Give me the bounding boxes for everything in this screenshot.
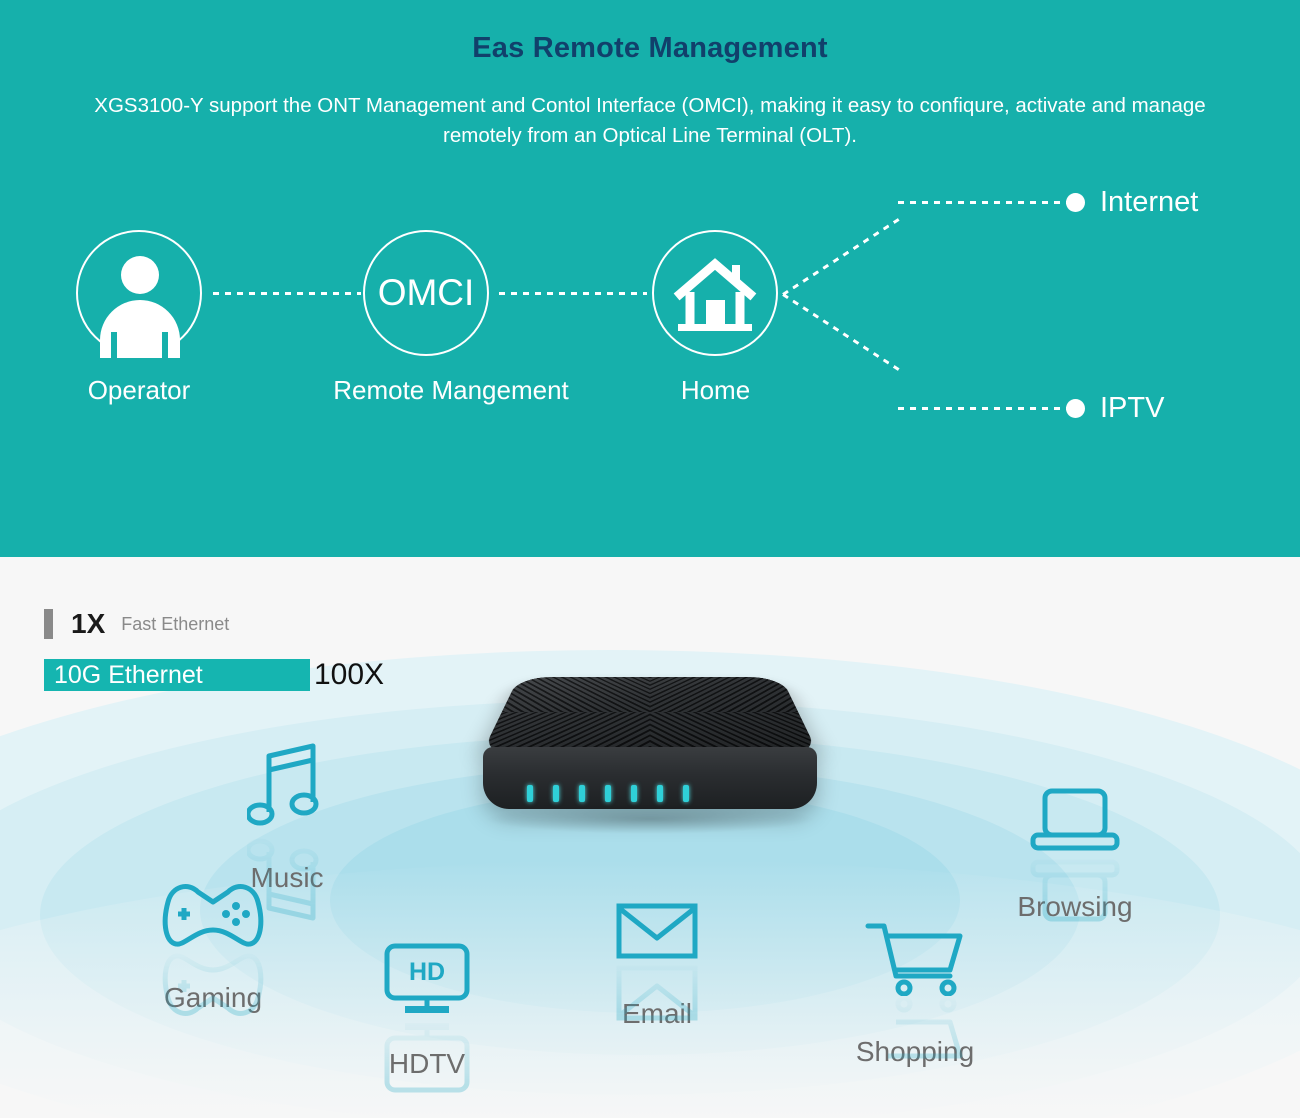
flow-label-operator: Operator	[39, 375, 239, 406]
endpoint-dot-iptv	[1066, 399, 1085, 418]
endpoint-label-iptv: IPTV	[1100, 392, 1164, 425]
feature-label-browsing: Browsing	[1005, 891, 1145, 923]
name-fast-ethernet: Fast Ethernet	[121, 614, 229, 635]
feature-music: Music	[222, 740, 352, 894]
omci-circle: OMCI	[363, 230, 489, 356]
connector-home-internet-diagonal	[782, 218, 899, 296]
operator-circle	[76, 230, 202, 356]
router-shadow	[485, 804, 815, 834]
feature-label-shopping: Shopping	[845, 1036, 985, 1068]
led-indicator	[631, 785, 637, 802]
connector-home-iptv-diagonal	[782, 293, 899, 371]
feature-label-email: Email	[592, 998, 722, 1030]
comparison-row-fast-ethernet: 1X Fast Ethernet	[44, 608, 384, 640]
house-icon	[654, 232, 776, 354]
led-indicator	[657, 785, 663, 802]
feature-label-gaming: Gaming	[148, 982, 278, 1014]
comparison-row-10g-ethernet: 10G Ethernet 100X	[44, 658, 384, 692]
envelope-icon	[592, 900, 722, 962]
page-title: Eas Remote Management	[0, 32, 1300, 65]
feature-label-hdtv: HDTV	[362, 1048, 492, 1080]
flow-diagram: Operator OMCI Remote Mangement	[0, 170, 1300, 460]
omci-label: OMCI	[365, 274, 487, 311]
person-icon	[78, 232, 200, 354]
music-note-icon	[222, 740, 352, 832]
endpoint-label-internet: Internet	[1100, 186, 1198, 219]
connector-iptv-horizontal	[898, 407, 1078, 410]
led-indicator	[553, 785, 559, 802]
feature-shopping: Shopping	[845, 920, 985, 1068]
gamepad-icon	[148, 880, 278, 950]
router-front-face	[483, 747, 817, 809]
feature-browsing: Browsing	[1005, 785, 1145, 923]
connector-internet-horizontal	[898, 201, 1078, 204]
home-circle	[652, 230, 778, 356]
feature-email: Email	[592, 900, 722, 1030]
bar-label-10g-ethernet: 10G Ethernet	[54, 661, 203, 690]
router-device	[425, 572, 875, 862]
multiplier-fast-ethernet: 1X	[71, 608, 105, 640]
bar-fast-ethernet	[44, 609, 53, 639]
endpoint-dot-internet	[1066, 193, 1085, 212]
shopping-cart-icon	[845, 920, 985, 996]
multiplier-10g-ethernet: 100X	[314, 658, 384, 692]
flow-label-home: Home	[648, 375, 783, 406]
page-subtitle: XGS3100-Y support the ONT Management and…	[90, 91, 1210, 151]
router-texture	[480, 677, 820, 757]
router-top-shell	[480, 677, 820, 757]
promo-graphic: Eas Remote Management XGS3100-Y support …	[0, 0, 1300, 1118]
ethernet-comparison: 1X Fast Ethernet 10G Ethernet 100X	[44, 608, 384, 692]
feature-hdtv: HD HDTV	[362, 940, 492, 1080]
led-indicator	[605, 785, 611, 802]
remote-management-panel: Eas Remote Management XGS3100-Y support …	[0, 0, 1300, 557]
connector-operator-omci	[213, 292, 361, 295]
led-indicator	[579, 785, 585, 802]
hd-badge: HD	[409, 958, 445, 986]
bar-10g-ethernet: 10G Ethernet	[44, 659, 310, 691]
feature-gaming: Gaming	[148, 880, 278, 1014]
laptop-icon	[1005, 785, 1145, 855]
flow-label-remote-management: Remote Mangement	[306, 375, 596, 406]
connector-omci-home	[499, 292, 647, 295]
performance-panel: 1X Fast Ethernet 10G Ethernet 100X	[0, 560, 1300, 1118]
led-indicator	[683, 785, 689, 802]
tv-icon: HD	[362, 940, 492, 1018]
led-indicator	[527, 785, 533, 802]
